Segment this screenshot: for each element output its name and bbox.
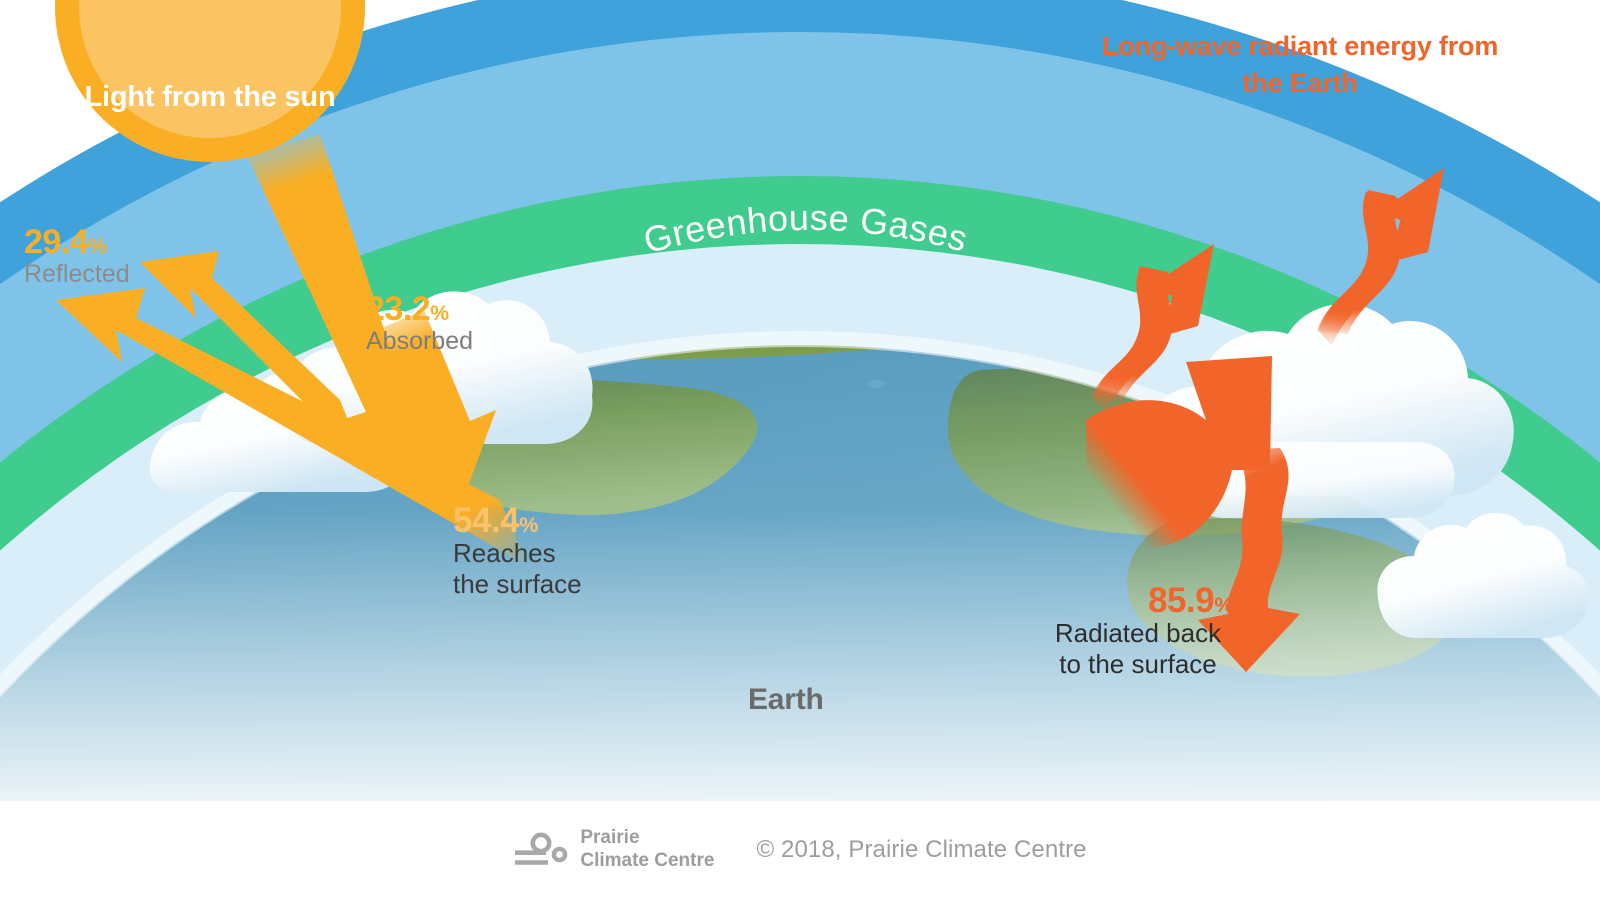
annotation-absorbed: 23.2% Absorbed xyxy=(366,292,596,357)
surface-percent-value: 54.4% xyxy=(453,503,713,538)
infographic-canvas: Greenhouse Gases xyxy=(0,0,1600,898)
copyright-notice: © 2018, Prairie Climate Centre xyxy=(756,836,1086,864)
reflected-caption: Reflected xyxy=(24,259,224,290)
sun-label: Light from the sun xyxy=(85,81,336,162)
greenhouse-effect-graphic: Greenhouse Gases xyxy=(0,0,1600,801)
prairie-climate-centre-logo-icon xyxy=(513,830,569,870)
annotation-reflected: 29.4% Reflected xyxy=(24,225,224,290)
brand-name: Prairie Climate Centre xyxy=(580,827,714,872)
annotation-radiated-back: 85.9% Radiated back to the surface xyxy=(1013,583,1263,680)
reflected-percent-value: 29.4% xyxy=(24,225,224,259)
annotation-reaches-surface: 54.4% Reaches the surface xyxy=(453,503,713,600)
brand: Prairie Climate Centre xyxy=(513,827,714,872)
earth-label: Earth xyxy=(748,683,824,717)
absorbed-percent-value: 23.2% xyxy=(366,292,596,326)
sun: Light from the sun xyxy=(55,0,365,162)
absorbed-caption: Absorbed xyxy=(366,326,596,357)
surface-caption: Reaches the surface xyxy=(453,538,713,600)
footer: Prairie Climate Centre © 2018, Prairie C… xyxy=(0,801,1600,898)
radiated-caption: Radiated back to the surface xyxy=(1013,618,1263,680)
radiated-percent-value: 85.9% xyxy=(1013,583,1263,618)
long-wave-energy-title: Long-wave radiant energy from the Earth xyxy=(1090,28,1510,103)
